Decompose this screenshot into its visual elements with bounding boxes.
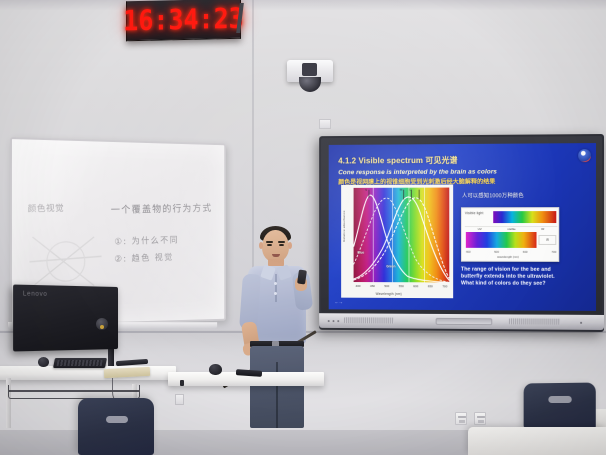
chart-series-label-green: Green [386,264,395,268]
interactive-flat-panel[interactable]: 4.1.2 Visible spectrum 可见光谱 Cone respons… [319,134,604,332]
chart-xtick-5: 650 [428,284,433,289]
mouse-left [38,357,49,367]
chart-xtick-2: 500 [384,284,389,289]
whiteboard-ink-line-2: 一个覆盖物的行为方式 [111,200,213,216]
wall-plate [319,119,331,129]
slide-bottom-question: The range of vision for the bee and butt… [461,267,563,289]
presenter-eyebrow-left [266,241,273,243]
chart-y-axis-label: Relative absorbance [342,210,346,241]
presentation-slide: 4.1.2 Visible spectrum 可见光谱 Cone respons… [329,143,596,311]
slide-nav-arrows[interactable]: ←→ [334,300,342,306]
university-logo [578,149,591,162]
chart-plot-area: S M L Blue Green [354,188,450,283]
slide-subtitle-english: Cone response is interpreted by the brai… [338,168,588,176]
presenter-shirt-placket [275,274,277,302]
presenter-ear-left [259,242,263,249]
chart-x-axis-label: Wavelength (nm) [376,292,402,296]
wall-outlet-right [474,412,486,425]
wall-switch-icon [180,380,184,386]
inset-axis-tick-3: 700 [551,250,556,255]
chair-foreground-handle [106,416,128,423]
whiteboard-ink-line-4: ②: 趋色 视觉 [114,250,173,264]
ceiling-band [0,0,606,10]
presenter [232,222,324,427]
monitor-arm-screw-icon [100,325,104,329]
chart-peak-label-s: S [365,188,367,192]
whiteboard-ink-line-3: ①: 为什么不同 [114,233,179,247]
chart-curves [354,188,450,283]
slide-chinese-note: 人可以感知1000万种颜色 [462,191,524,199]
student-table [468,427,606,455]
chart-series-label-blue: Blue [357,251,364,255]
presenter-ear-right [288,242,292,249]
slide-title: 4.1.2 Visible spectrum 可见光谱 [338,153,588,166]
display-screen[interactable]: 4.1.2 Visible spectrum 可见光谱 Cone respons… [329,143,596,311]
display-control-panel[interactable] [436,318,493,325]
whiteboard-ink-line-1: 颜色视觉 [27,201,64,214]
chart-xtick-1: 450 [370,284,375,289]
presenter-head [262,230,289,262]
chart-xtick-0: 400 [356,284,361,289]
speaker-grille-right [509,318,560,324]
monitor-brand-label: Lenovo [23,291,48,298]
wall-mounted-camera [287,60,333,93]
inset-axis-tick-0: 400 [466,250,471,255]
presenter-eyebrow-right [278,241,285,243]
wall-outlet-near-desk [175,394,184,405]
clock-time: 16:34:23 [123,2,243,37]
wall-outlet-left [455,412,467,425]
camera-lens-housing [302,63,317,76]
inset-axis-tick-2: 600 [523,250,528,255]
inset-mid-ticks: UV visible IR [465,226,557,231]
chart-x-ticks: 400 450 500 550 600 650 700 [354,284,450,289]
inset-x-axis-label: wavelength (nm) [497,255,519,259]
chart-xtick-3: 550 [399,284,404,289]
inset-tick-ir: IR [541,227,544,231]
sensor-icon [337,320,339,322]
chart-peak-label-l: L [409,188,411,192]
visible-light-inset: Visible light UV visible IR IR 400 500 [461,207,559,262]
led-wall-clock: 16:34:23 [126,0,241,41]
camera-dome [299,77,321,92]
mouse-right [209,364,222,375]
chart-peak-label-m: M [400,188,402,192]
chair-foreground [78,398,154,455]
presenter-shirt-button-1 [274,282,277,285]
chair-right [524,383,596,430]
spectrum-bar-lower [466,232,537,248]
inset-tick-uv: UV [478,227,482,231]
presenter-shirt-button-2 [274,292,277,295]
ir-receiver-icon [580,322,582,324]
cone-response-chart: Relative absorbance [341,185,453,299]
chart-xtick-4: 600 [413,284,418,289]
speaker-grille-left [344,317,394,323]
display-bottom-bezel [319,313,604,330]
status-led-icon [333,320,335,322]
inset-ir-tag: IR [538,235,556,245]
keyboard [53,358,107,368]
spectrum-bar-upper [493,211,556,223]
classroom-scene: 16:34:23 颜色视觉 一个覆盖物的行为方式 ①: 为什么不同 ②: 趋色 … [0,0,606,455]
chart-xtick-6: 700 [442,284,447,289]
inset-tick-visible: visible [507,227,515,231]
display-bezel: 4.1.2 Visible spectrum 可见光谱 Cone respons… [321,136,602,314]
chair-right-handle [548,396,571,403]
power-led-icon [328,320,330,322]
